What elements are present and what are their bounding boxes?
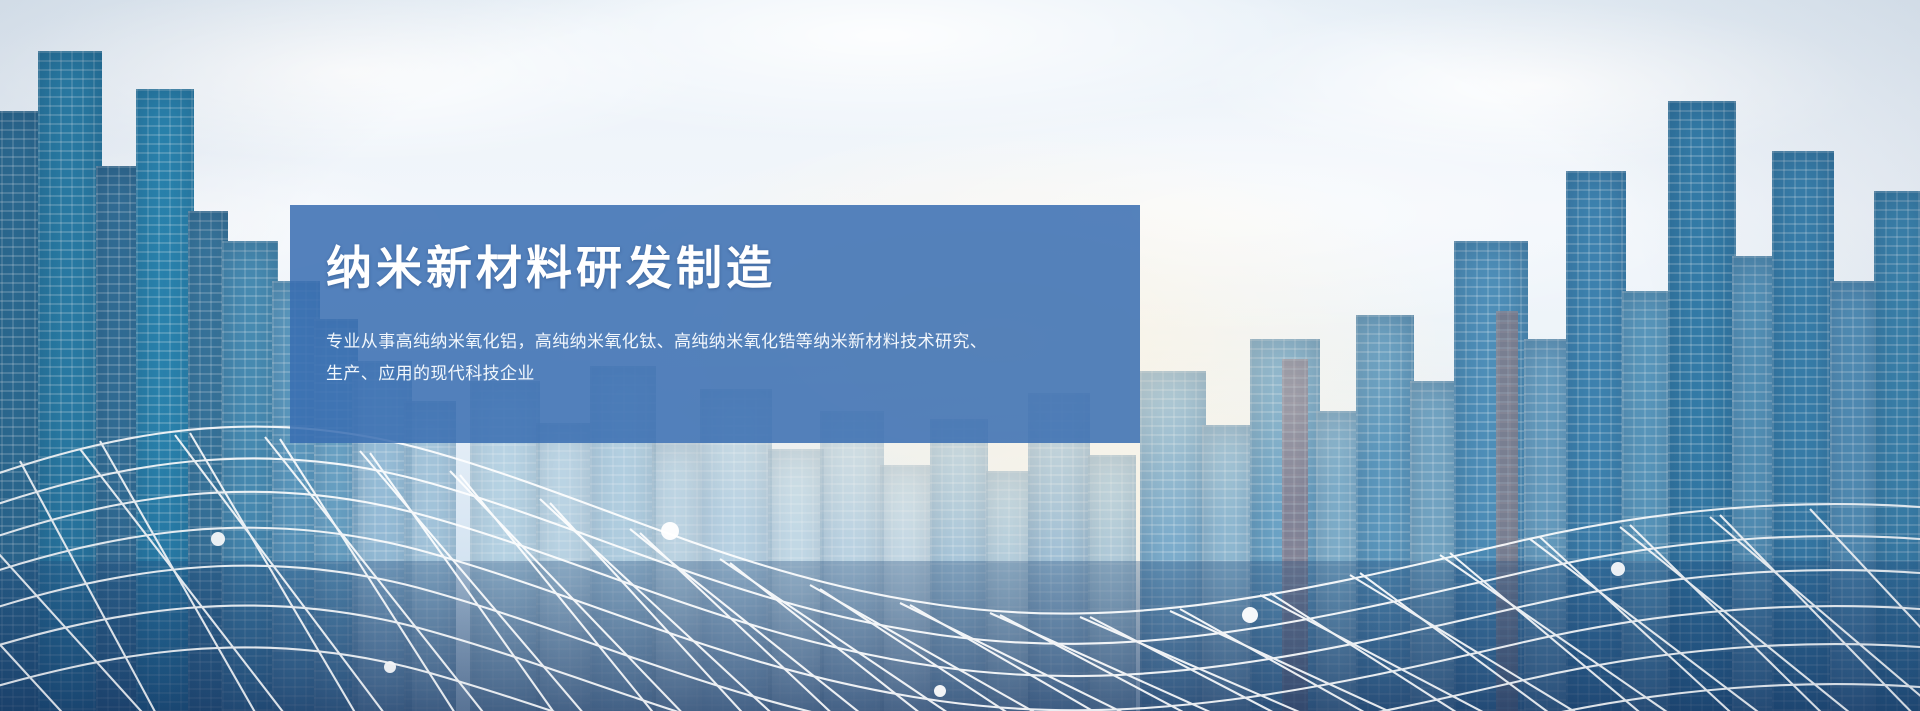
hero-subtitle-line-1: 专业从事高纯纳米氧化铝，高纯纳米氧化钛、高纯纳米氧化锆等纳米新材料技术研究、: [326, 326, 1140, 358]
hero-subtitle-line-2: 生产、应用的现代科技企业: [326, 358, 1140, 390]
hero-banner: 纳米新材料研发制造 专业从事高纯纳米氧化铝，高纯纳米氧化钛、高纯纳米氧化锆等纳米…: [0, 0, 1920, 711]
page-title: 纳米新材料研发制造: [326, 241, 1140, 296]
hero-text-panel: 纳米新材料研发制造 专业从事高纯纳米氧化铝，高纯纳米氧化钛、高纯纳米氧化锆等纳米…: [290, 205, 1140, 443]
